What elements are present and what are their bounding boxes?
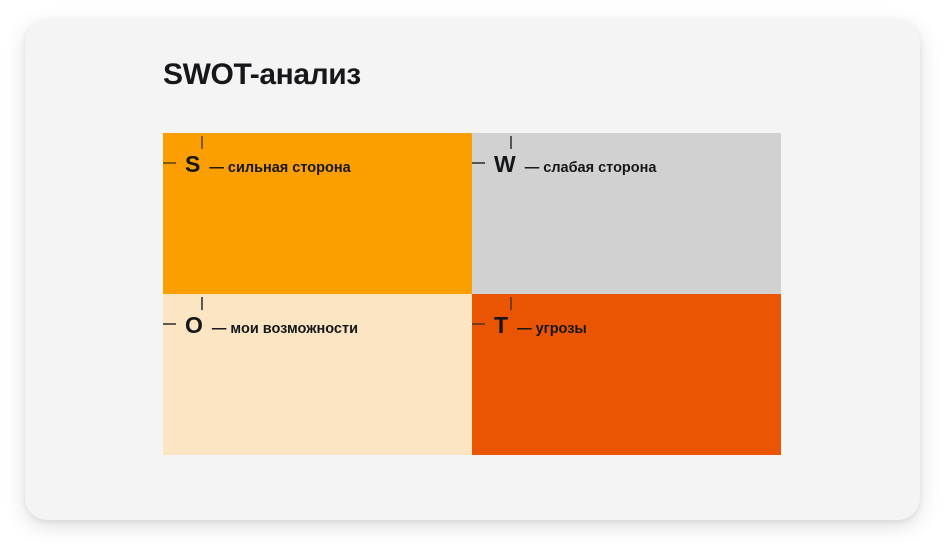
swot-quadrant-threats[interactable]: T — угрозы [472,294,781,455]
swot-quadrant-strengths[interactable]: S — сильная сторона [163,133,472,294]
swot-letter-t: T [494,314,508,337]
registration-tick-vertical-icon [510,136,512,149]
swot-description-weaknesses: — слабая сторона [525,161,657,176]
swot-description-text-s: сильная сторона [228,160,351,176]
content-card: SWOT-анализ S — сильная сторона W — слаб… [25,20,920,520]
swot-description-text-w: слабая сторона [543,160,656,176]
swot-quadrant-opportunities[interactable]: O — мои возможности [163,294,472,455]
swot-quadrant-label-threats: T — угрозы [494,314,587,337]
swot-quadrant-label-opportunities: O — мои возможности [185,314,358,337]
swot-quadrant-label-weaknesses: W — слабая сторона [494,153,656,176]
swot-description-text-o: мои возможности [230,321,358,337]
swot-description-opportunities: — мои возможности [212,322,358,337]
swot-quadrant-weaknesses[interactable]: W — слабая сторона [472,133,781,294]
swot-description-strengths: — сильная сторона [209,161,350,176]
swot-matrix: S — сильная сторона W — слабая сторона O [163,133,781,455]
registration-tick-vertical-icon [201,136,203,149]
slide-canvas: SWOT-анализ S — сильная сторона W — слаб… [0,0,944,544]
registration-tick-vertical-icon [510,297,512,310]
registration-tick-horizontal-icon [472,162,485,164]
swot-quadrant-label-strengths: S — сильная сторона [185,153,351,176]
swot-separator-t: — [517,321,532,337]
registration-tick-horizontal-icon [472,323,485,325]
registration-tick-vertical-icon [201,297,203,310]
swot-separator-o: — [212,321,227,337]
swot-separator-w: — [525,160,540,176]
page-title: SWOT-анализ [163,58,361,92]
swot-separator-s: — [209,160,224,176]
swot-letter-w: W [494,153,516,176]
swot-letter-o: O [185,314,203,337]
registration-tick-horizontal-icon [163,162,176,164]
swot-letter-s: S [185,153,200,176]
swot-description-threats: — угрозы [517,322,587,337]
registration-tick-horizontal-icon [163,323,176,325]
swot-description-text-t: угрозы [536,321,587,337]
